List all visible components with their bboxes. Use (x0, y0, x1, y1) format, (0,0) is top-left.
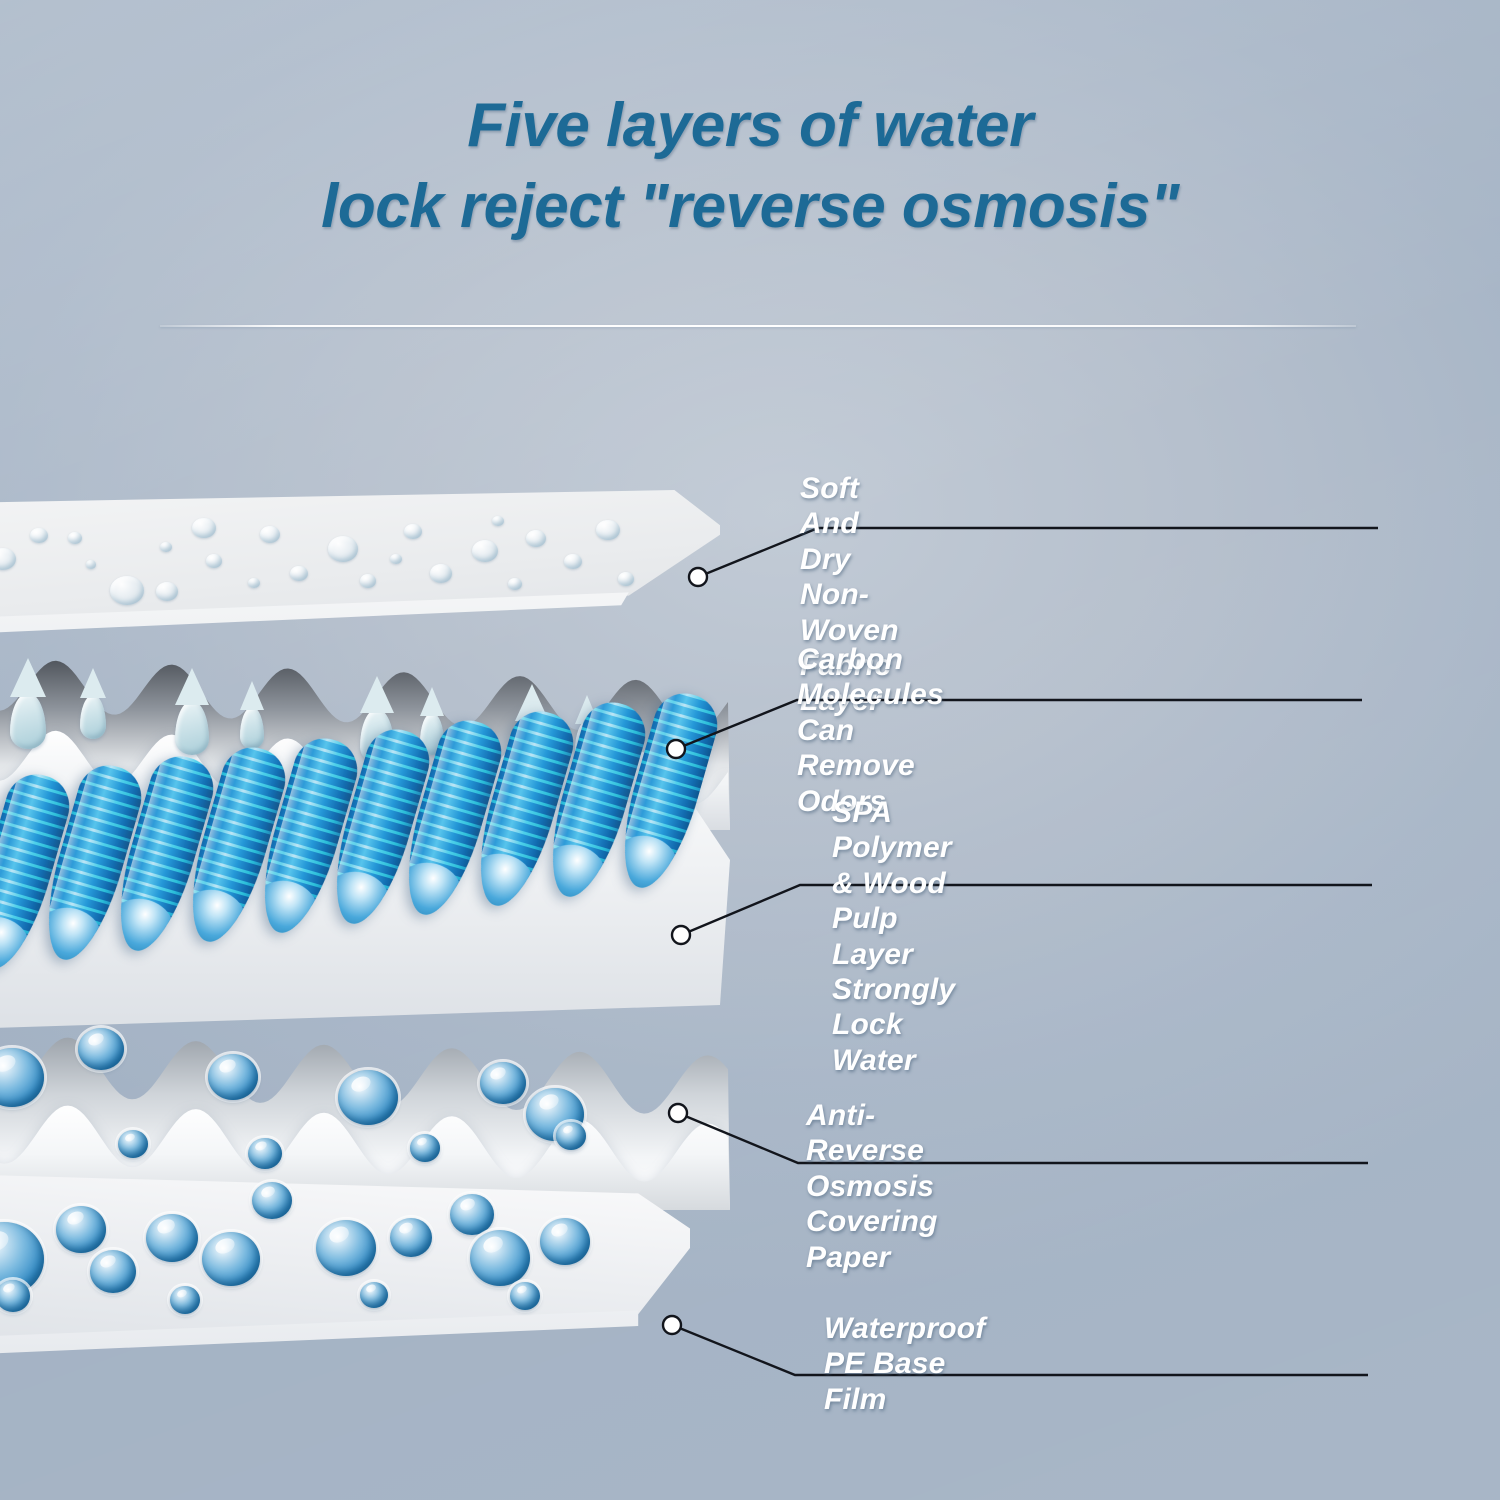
infographic-stage: Five layers of water lock reject "revers… (0, 0, 1500, 1500)
leader-line-waterproof-pe-base-film (0, 0, 1500, 1500)
callout-label-waterproof-pe-base-film: Waterproof PE Base Film (824, 1311, 985, 1417)
